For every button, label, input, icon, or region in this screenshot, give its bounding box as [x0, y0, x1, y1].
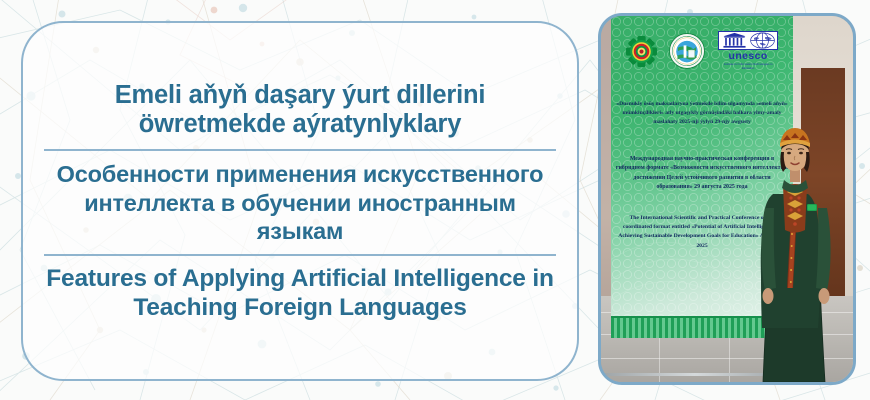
- unesco-subtitle: Institute for Information Technologies i…: [718, 63, 778, 71]
- headline-english: Features of Applying Artificial Intellig…: [41, 265, 559, 323]
- photo-content: unesco Institute for Information Technol…: [601, 16, 853, 382]
- conference-photo: unesco Institute for Information Technol…: [598, 13, 856, 385]
- ministry-of-education-seal-icon: [669, 33, 705, 69]
- headline-russian: Особенности применения искусственного ин…: [41, 160, 559, 245]
- woman-in-traditional-dress: [753, 112, 839, 382]
- unesco-wordmark: unesco: [729, 51, 768, 63]
- unesco-emblem-box: [718, 31, 778, 50]
- banner-logos: unesco Institute for Information Technol…: [611, 29, 793, 73]
- unesco-logo: unesco Institute for Information Technol…: [717, 31, 779, 71]
- divider-bottom: [44, 254, 556, 257]
- headline-turkmen: Emeli aňyň daşary ýurt dillerini öwretme…: [41, 79, 559, 140]
- title-stack: Emeli aňyň daşary ýurt dillerini öwretme…: [31, 24, 569, 378]
- divider-top: [44, 149, 556, 152]
- unesco-temple-icon: [721, 32, 748, 49]
- unesco-world-map-icon: [749, 32, 776, 49]
- slide-canvas: Emeli aňyň daşary ýurt dillerini öwretme…: [0, 0, 870, 400]
- turkmenistan-emblem-icon: [625, 35, 658, 68]
